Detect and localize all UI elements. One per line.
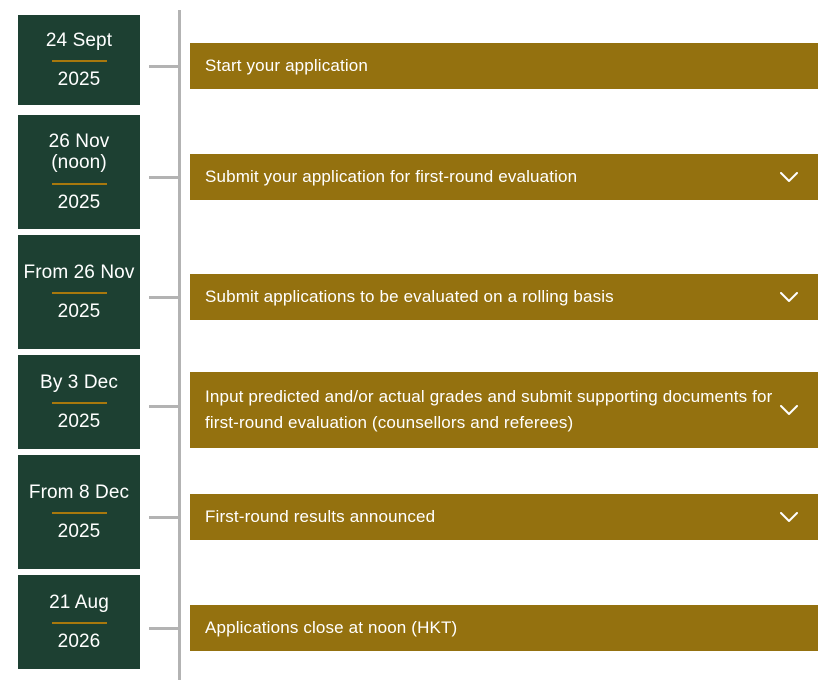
- timeline-connector: [149, 516, 180, 519]
- timeline-event-bar[interactable]: First-round results announced: [190, 494, 818, 540]
- timeline-date-card: From 26 Nov 2025: [18, 235, 140, 349]
- timeline-date-day: By 3 Dec: [40, 372, 118, 393]
- timeline-date-year: 2025: [58, 521, 101, 542]
- timeline-date-card: 21 Aug 2026: [18, 575, 140, 669]
- timeline-event-label: Submit your application for first-round …: [205, 164, 577, 190]
- date-divider: [52, 183, 107, 185]
- timeline-event-bar[interactable]: Start your application: [190, 43, 818, 89]
- chevron-down-icon[interactable]: [778, 166, 800, 188]
- timeline-date-card: By 3 Dec 2025: [18, 355, 140, 449]
- timeline-event-bar[interactable]: Submit your application for first-round …: [190, 154, 818, 200]
- timeline-date-day: 26 Nov (noon): [49, 131, 110, 174]
- date-divider: [52, 512, 107, 514]
- timeline-date-year: 2026: [58, 631, 101, 652]
- timeline-date-year: 2025: [58, 69, 101, 90]
- timeline-event-bar[interactable]: Applications close at noon (HKT): [190, 605, 818, 651]
- chevron-down-icon[interactable]: [778, 399, 800, 421]
- timeline-event-label: Submit applications to be evaluated on a…: [205, 284, 614, 310]
- timeline-date-year: 2025: [58, 192, 101, 213]
- timeline-date-day: 24 Sept: [46, 30, 112, 51]
- chevron-down-icon[interactable]: [778, 286, 800, 308]
- timeline-date-day: 21 Aug: [49, 592, 109, 613]
- date-divider: [52, 402, 107, 404]
- date-divider: [52, 292, 107, 294]
- timeline-connector: [149, 405, 180, 408]
- timeline-date-year: 2025: [58, 411, 101, 432]
- date-divider: [52, 622, 107, 624]
- timeline-event-label: First-round results announced: [205, 504, 435, 530]
- timeline-date-card: 26 Nov (noon) 2025: [18, 115, 140, 229]
- timeline-event-bar[interactable]: Submit applications to be evaluated on a…: [190, 274, 818, 320]
- timeline-connector: [149, 627, 180, 630]
- timeline-spine: [178, 10, 181, 680]
- timeline-event-label: Input predicted and/or actual grades and…: [205, 384, 775, 437]
- timeline-event-bar[interactable]: Input predicted and/or actual grades and…: [190, 372, 818, 448]
- timeline-event-label: Applications close at noon (HKT): [205, 615, 457, 641]
- timeline-date-card: From 8 Dec 2025: [18, 455, 140, 569]
- timeline-connector: [149, 176, 180, 179]
- timeline-date-card: 24 Sept 2025: [18, 15, 140, 105]
- application-timeline: 24 Sept 2025 Start your application 26 N…: [0, 0, 827, 692]
- timeline-connector: [149, 65, 180, 68]
- timeline-connector: [149, 296, 180, 299]
- date-divider: [52, 60, 107, 62]
- timeline-date-day: From 26 Nov: [24, 262, 135, 283]
- timeline-date-day: From 8 Dec: [29, 482, 129, 503]
- chevron-down-icon[interactable]: [778, 506, 800, 528]
- timeline-event-label: Start your application: [205, 53, 368, 79]
- timeline-date-year: 2025: [58, 301, 101, 322]
